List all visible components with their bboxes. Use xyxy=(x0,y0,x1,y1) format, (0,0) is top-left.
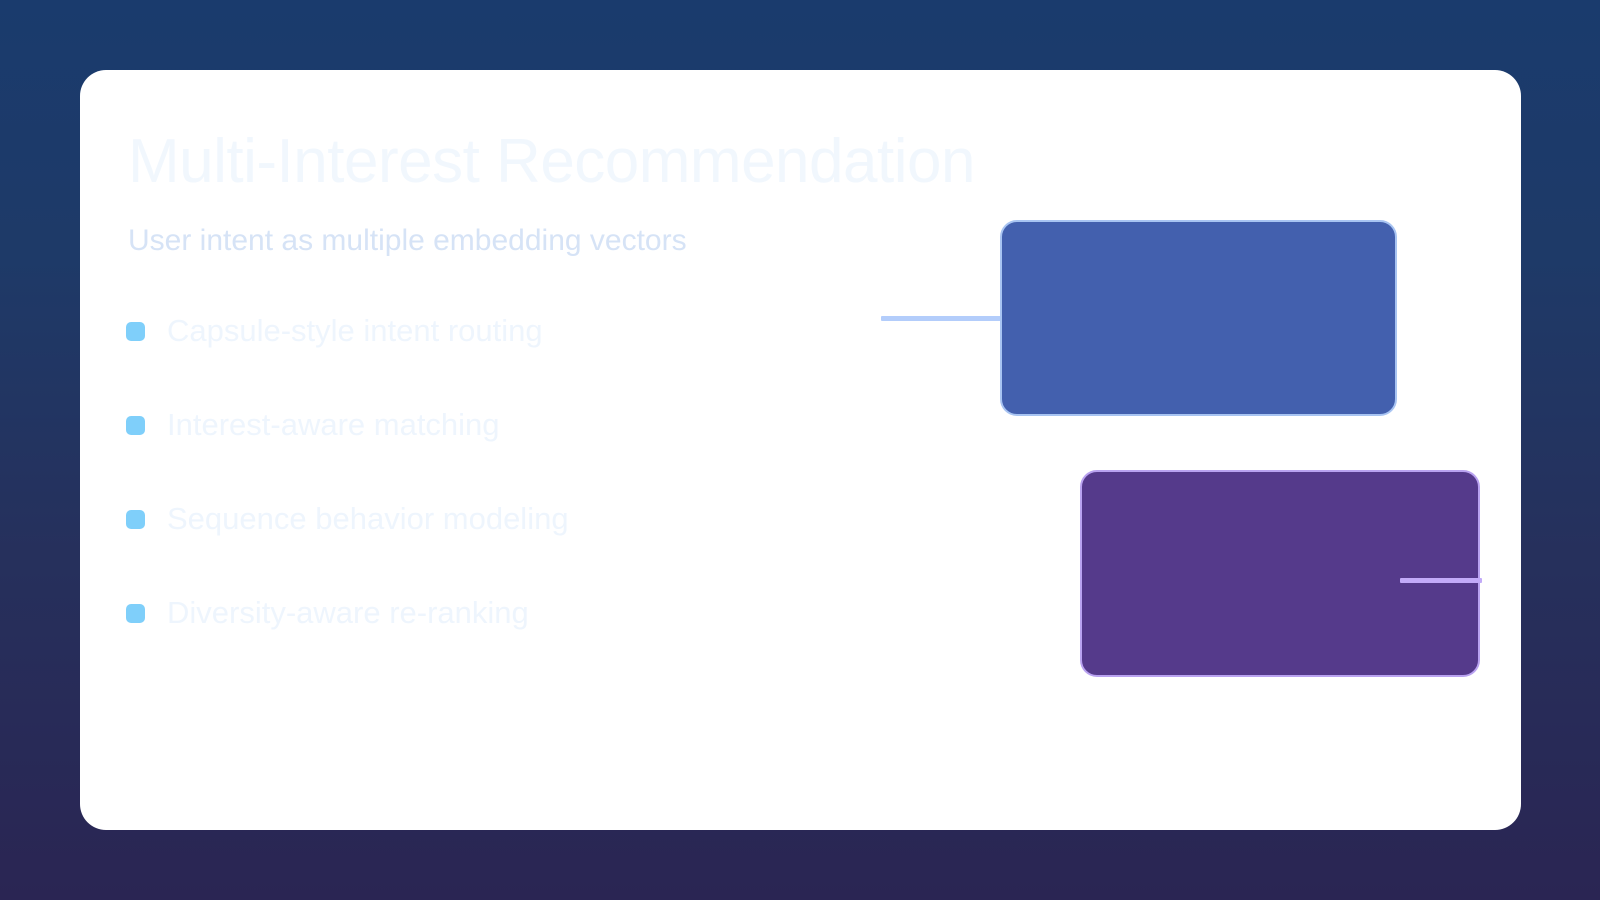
list-item-label: Diversity-aware re-ranking xyxy=(167,592,529,634)
list-item: Sequence behavior modeling xyxy=(126,498,886,592)
list-item-label: Capsule-style intent routing xyxy=(167,310,543,352)
secondary-block xyxy=(1080,470,1480,677)
list-item-label: Sequence behavior modeling xyxy=(167,498,569,540)
square-bullet-icon xyxy=(126,416,145,435)
primary-connector-line xyxy=(881,316,1003,321)
square-bullet-icon xyxy=(126,322,145,341)
square-bullet-icon xyxy=(126,510,145,529)
slide-stage: Multi-Interest Recommendation User inten… xyxy=(0,0,1600,900)
slide-subtitle: User intent as multiple embedding vector… xyxy=(128,222,687,260)
list-item: Interest-aware matching xyxy=(126,404,886,498)
page-title: Multi-Interest Recommendation xyxy=(128,126,975,198)
bullet-list: Capsule-style intent routing Interest-aw… xyxy=(126,310,886,686)
slide-card: Multi-Interest Recommendation User inten… xyxy=(80,70,1521,830)
square-bullet-icon xyxy=(126,604,145,623)
secondary-connector-line xyxy=(1400,578,1482,583)
primary-block xyxy=(1000,220,1397,416)
list-item: Diversity-aware re-ranking xyxy=(126,592,886,686)
list-item: Capsule-style intent routing xyxy=(126,310,886,404)
list-item-label: Interest-aware matching xyxy=(167,404,500,446)
